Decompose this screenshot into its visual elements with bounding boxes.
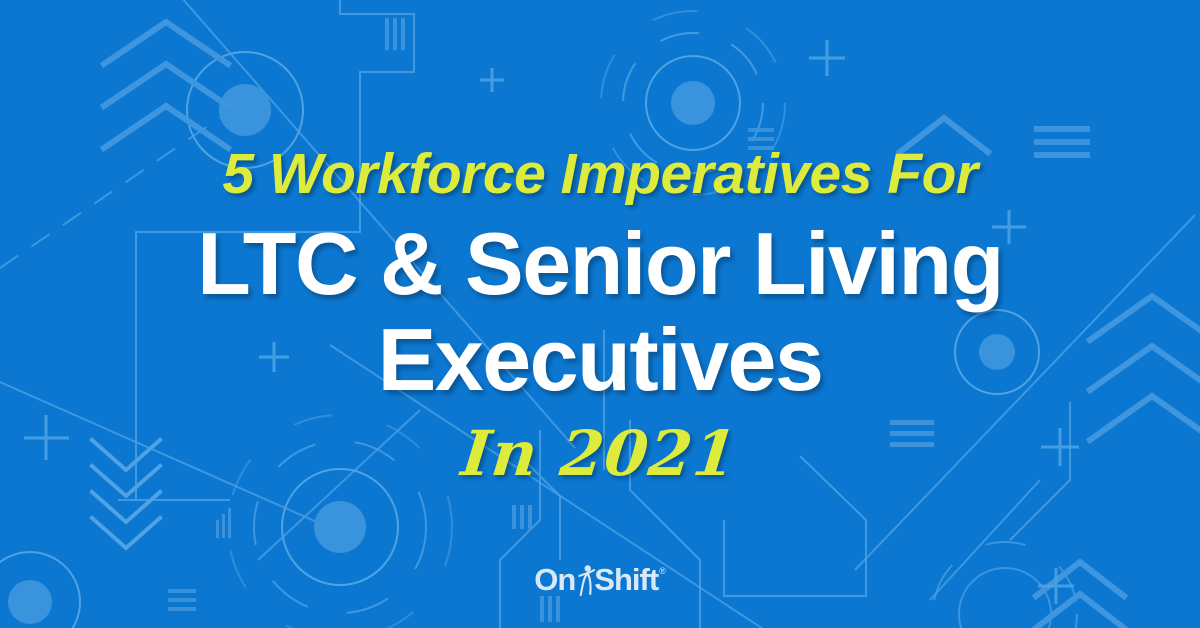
headline-stack: 5 Workforce Imperatives For LTC & Senior…	[0, 0, 1200, 628]
eyebrow-text: 5 Workforce Imperatives For	[222, 146, 977, 203]
promo-banner: 5 Workforce Imperatives For LTC & Senior…	[0, 0, 1200, 628]
headline-line-1: LTC & Senior Living	[197, 219, 1003, 309]
logo-word-shift: Shift	[594, 564, 658, 595]
main-headline: LTC & Senior Living Executives	[197, 219, 1003, 405]
registered-trademark-icon: ®	[659, 566, 666, 576]
person-figure-icon	[575, 562, 595, 596]
onshift-logo: On Shift ®	[534, 562, 666, 596]
script-subtitle: In 2021	[459, 423, 741, 485]
headline-line-2: Executives	[197, 315, 1003, 405]
logo-word-on: On	[534, 564, 575, 595]
